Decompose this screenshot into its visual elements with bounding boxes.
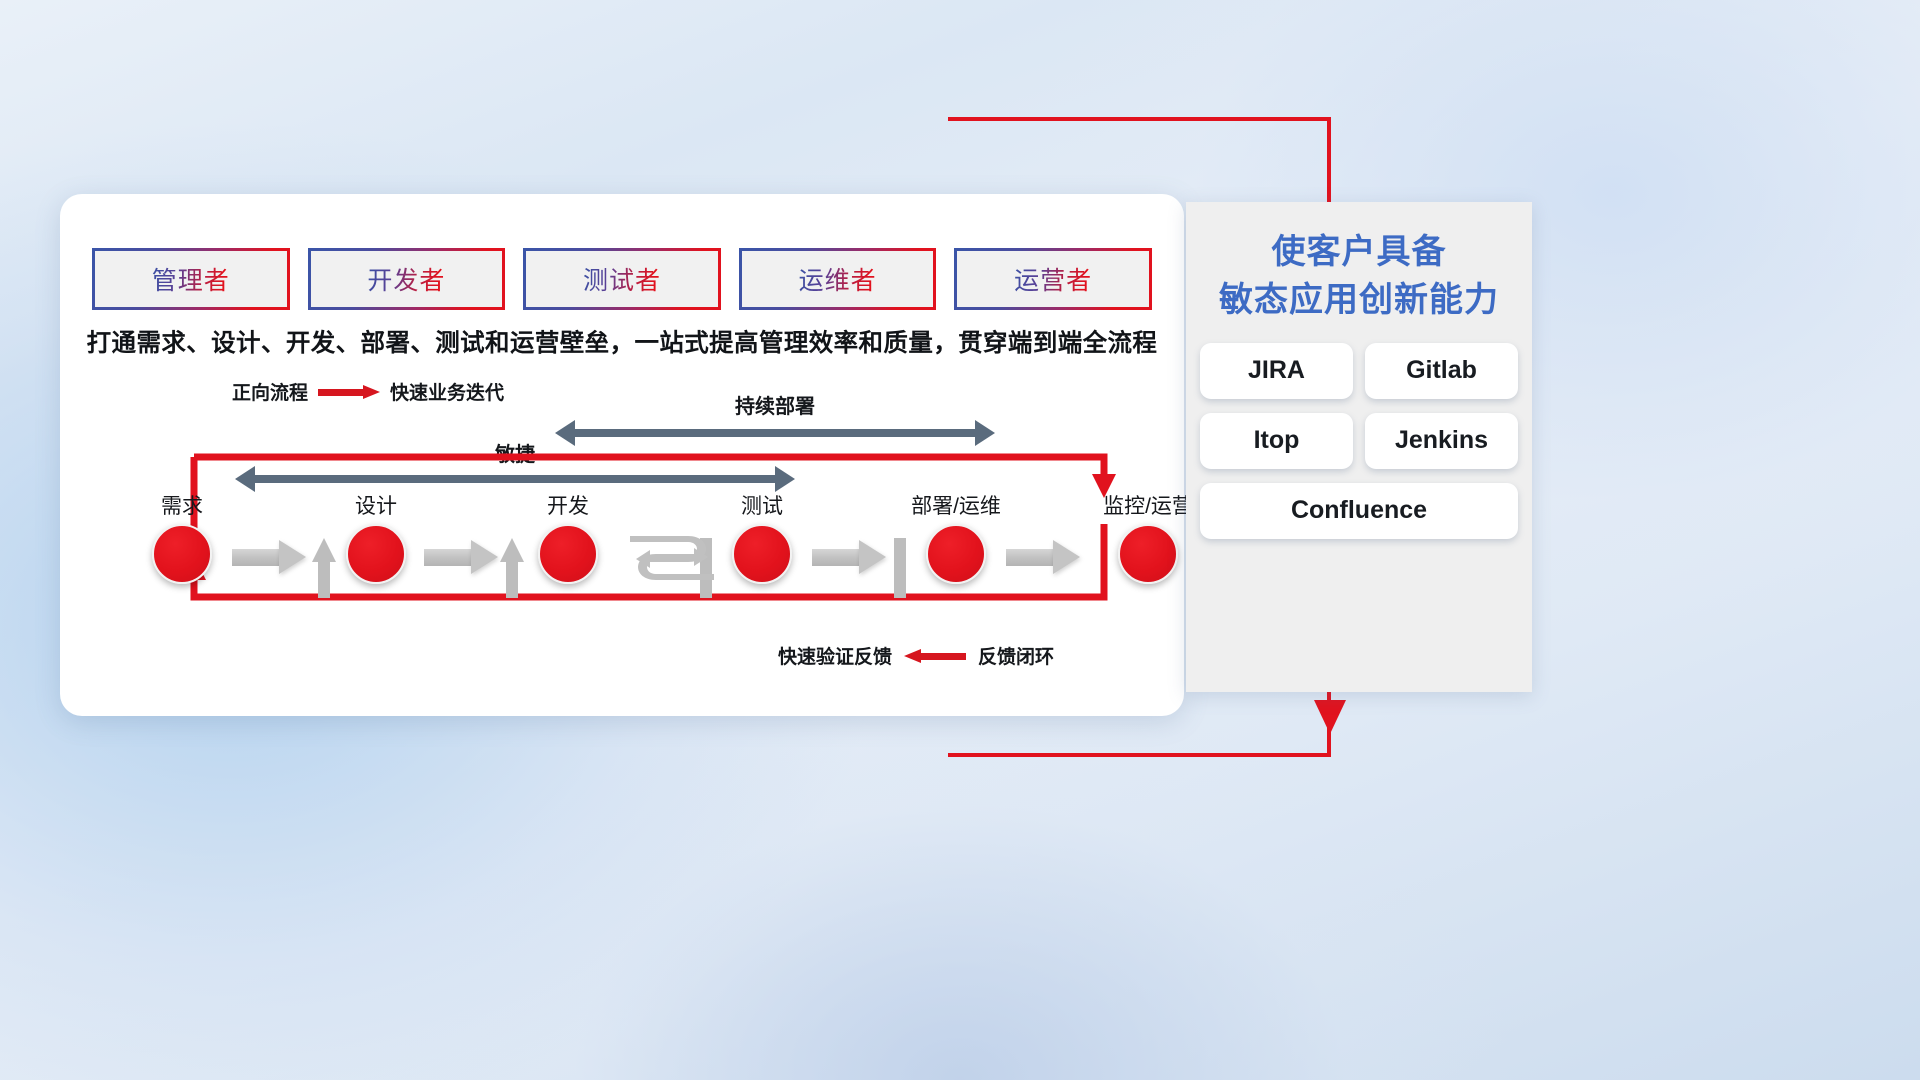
role-box-tester[interactable]: 测试者 bbox=[523, 248, 721, 310]
stage-label: 测试 bbox=[741, 490, 783, 520]
tool-chip-label: Itop bbox=[1254, 426, 1300, 455]
tool-chip-label: Confluence bbox=[1291, 496, 1427, 525]
stage-dot-icon bbox=[152, 524, 212, 584]
role-box-operations[interactable]: 运营者 bbox=[954, 248, 1152, 310]
role-label: 管理者 bbox=[152, 261, 230, 297]
agile-label: 敏捷 bbox=[235, 438, 795, 467]
arrow-left-red-icon bbox=[904, 649, 966, 663]
arrow-right-red-icon bbox=[318, 385, 380, 399]
flow-arrow-icon bbox=[812, 540, 886, 574]
feedback-loop-legend: 快速验证反馈 反馈闭环 bbox=[778, 642, 1054, 669]
role-box-developer[interactable]: 开发者 bbox=[308, 248, 506, 310]
stage-dot-icon bbox=[538, 524, 598, 584]
role-label: 运维者 bbox=[799, 261, 877, 297]
bracket-arrowhead-icon bbox=[1290, 700, 1380, 770]
stage-dot-icon bbox=[1118, 524, 1178, 584]
ci-loopback-arrow-icon bbox=[626, 532, 718, 584]
flow-arrow-icon bbox=[1006, 540, 1080, 574]
role-box-ops[interactable]: 运维者 bbox=[739, 248, 937, 310]
stage-label: 开发 bbox=[547, 490, 589, 520]
tool-chip-gitlab[interactable]: Gitlab bbox=[1365, 343, 1518, 399]
panel-title: 使客户具备 敏态应用创新能力 bbox=[1186, 228, 1532, 325]
stage-label: 监控/运营 bbox=[1103, 490, 1193, 520]
role-box-manager[interactable]: 管理者 bbox=[92, 248, 290, 310]
panel-title-line1: 使客户具备 bbox=[1272, 233, 1447, 271]
feedback-target-label: 快速验证反馈 bbox=[778, 642, 892, 669]
tool-chip-list: JIRA Gitlab Itop Jenkins Confluence bbox=[1200, 343, 1518, 539]
forward-flow-legend: 正向流程 快速业务迭代 bbox=[232, 378, 504, 405]
role-box-row: 管理者 开发者 测试者 运维者 运营者 bbox=[92, 248, 1152, 310]
forward-flow-target-label: 快速业务迭代 bbox=[390, 378, 504, 405]
role-label: 开发者 bbox=[367, 261, 445, 297]
role-label: 测试者 bbox=[583, 261, 661, 297]
forward-flow-source-label: 正向流程 bbox=[232, 378, 308, 405]
pipeline-row: 需求 设计 开发 测试 bbox=[102, 492, 1148, 582]
flow-arrow-icon bbox=[232, 540, 306, 574]
role-label: 运营者 bbox=[1014, 261, 1092, 297]
tool-chip-jira[interactable]: JIRA bbox=[1200, 343, 1353, 399]
panel-title-line2: 敏态应用创新能力 bbox=[1186, 276, 1532, 324]
stage-label: 设计 bbox=[355, 490, 397, 520]
tool-chip-jenkins[interactable]: Jenkins bbox=[1365, 413, 1518, 469]
tool-chip-label: JIRA bbox=[1248, 356, 1305, 385]
stage-dot-icon bbox=[346, 524, 406, 584]
value-proposition-panel: 使客户具备 敏态应用创新能力 JIRA Gitlab Itop Jenkins … bbox=[1186, 202, 1532, 692]
headline-text: 打通需求、设计、开发、部署、测试和运营壁垒，一站式提高管理效率和质量，贯穿端到端… bbox=[60, 324, 1184, 359]
main-diagram-card: 管理者 开发者 测试者 运维者 运营者 打通需求、设计、开发、部署、测试和运营壁… bbox=[60, 194, 1184, 716]
tool-chip-itop[interactable]: Itop bbox=[1200, 413, 1353, 469]
feedback-source-label: 反馈闭环 bbox=[978, 642, 1054, 669]
stage-label: 需求 bbox=[161, 490, 203, 520]
agile-arrow-icon bbox=[235, 466, 795, 492]
stage-label: 部署/运维 bbox=[911, 490, 1001, 520]
continuous-deployment-label: 持续部署 bbox=[555, 390, 995, 419]
stage-dot-icon bbox=[926, 524, 986, 584]
tool-chip-confluence[interactable]: Confluence bbox=[1200, 483, 1518, 539]
tool-chip-label: Gitlab bbox=[1406, 356, 1477, 385]
tool-chip-label: Jenkins bbox=[1395, 426, 1488, 455]
flow-arrow-icon bbox=[424, 540, 498, 574]
stage-dot-icon bbox=[732, 524, 792, 584]
